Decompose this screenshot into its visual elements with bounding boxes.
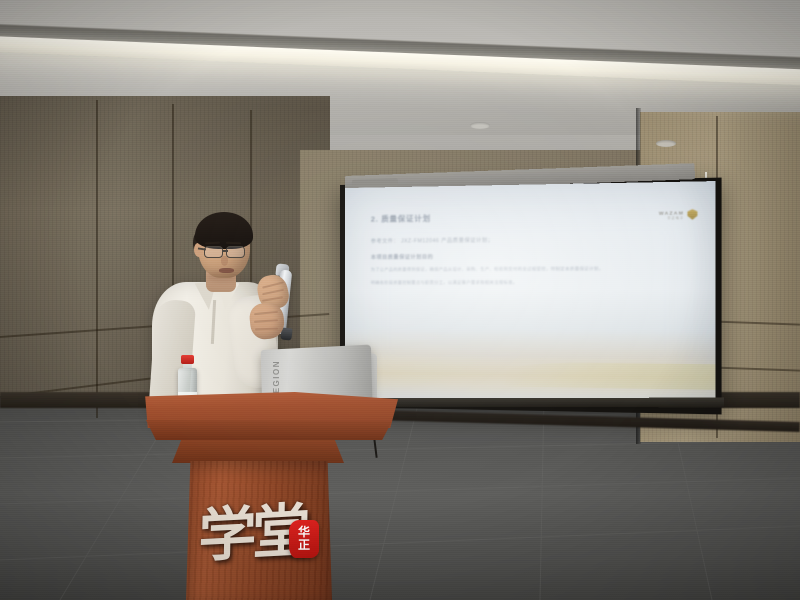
- ceiling-spotlight-icon: [470, 122, 490, 129]
- lectern-neck: [172, 437, 344, 463]
- slide-section-heading: 本项目质量保证计划目的: [371, 252, 695, 261]
- presenter-mouth: [219, 268, 234, 273]
- bottle-cap: [181, 355, 194, 364]
- slide-title: 2. 质量保证计划: [371, 209, 695, 225]
- slide-accent-band-secondary: [506, 362, 715, 390]
- slide-paragraph-line: 明确各阶段质量控制要点与职责分工，以满足客户要求和相关法规标准。: [371, 278, 653, 287]
- slide-logo-name: WAZAM: [659, 210, 684, 216]
- lectern-top-face: [146, 420, 392, 440]
- slide-subtitle: 参考文件： JXZ-FM12046 产品质量保证计划；: [371, 235, 695, 245]
- brand-seal: 华 正: [289, 520, 319, 558]
- projection-screen-casing-cap: [352, 178, 398, 188]
- projection-screen[interactable]: WAZAM 华正电子 2. 质量保证计划 参考文件： JXZ-FM12046 产…: [345, 181, 715, 407]
- slide-logo: WAZAM 华正电子: [659, 209, 698, 220]
- slide-paragraph-line: 为了让产品的质量得到保证，确保产品从设计、采购、生产、检验到交付的全过程受控，特…: [371, 264, 653, 273]
- glasses-icon: [226, 246, 245, 258]
- glasses-icon: [204, 246, 223, 258]
- shield-icon: [687, 209, 697, 220]
- panel-seam: [96, 100, 98, 418]
- presentation-room-photo: WAZAM 华正电子 2. 质量保证计划 参考文件： JXZ-FM12046 产…: [0, 0, 800, 600]
- glasses-bridge: [222, 250, 228, 252]
- seal-char: 正: [298, 539, 310, 552]
- slide-logo-subtitle: 华正电子: [659, 215, 684, 220]
- ceiling-spotlight-icon: [656, 140, 676, 147]
- presenter-chin-shadow: [206, 272, 242, 282]
- presenter-nose: [221, 256, 228, 266]
- slide-content: WAZAM 华正电子 2. 质量保证计划 参考文件： JXZ-FM12046 产…: [345, 181, 715, 407]
